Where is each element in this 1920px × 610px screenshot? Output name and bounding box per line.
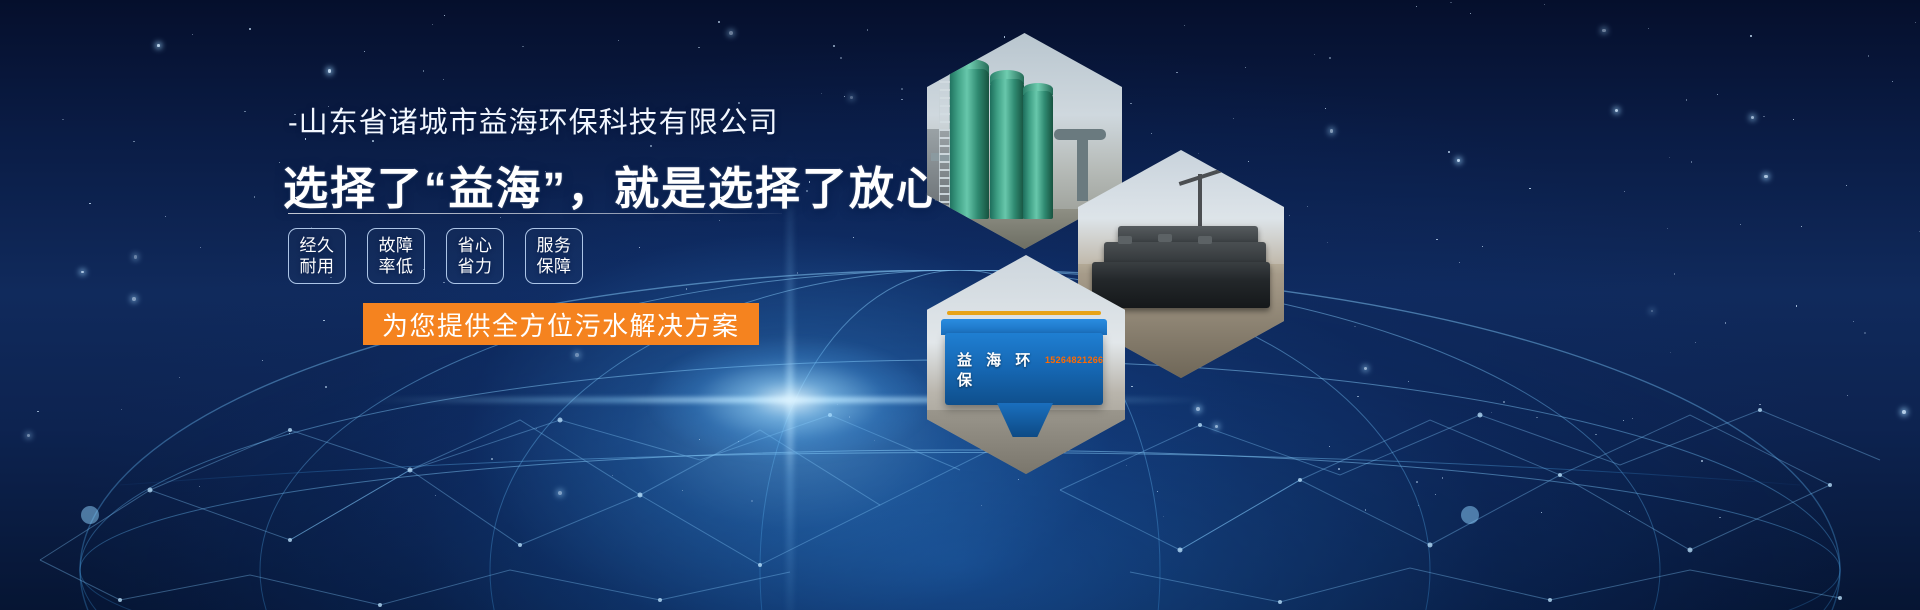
machine-brand-label: 益 海 环 保 [957,351,1043,371]
badge-line2: 省力 [458,256,493,277]
hero-banner: -山东省诸城市益海环保科技有限公司 选择了“益海”，就是选择了放心 经久 耐用 … [0,0,1920,610]
text-content: -山东省诸城市益海环保科技有限公司 选择了“益海”，就是选择了放心 经久 耐用 … [0,0,900,610]
cta-label: 为您提供全方位污水解决方案 [382,306,740,343]
headline: 选择了“益海”，就是选择了放心 [283,152,943,217]
badge-line1: 故障 [379,235,414,256]
badge-durability: 经久 耐用 [288,228,346,284]
badge-effortless: 省心 省力 [446,228,504,284]
machine-phone-label: 15264821266 [1045,355,1103,365]
badge-line2: 率低 [379,256,414,277]
badge-service-guarantee: 服务 保障 [525,228,583,284]
cta-banner[interactable]: 为您提供全方位污水解决方案 [363,303,759,345]
feature-badges: 经久 耐用 故障 率低 省心 省力 服务 保障 [288,228,583,284]
badge-line2: 耐用 [300,256,335,277]
divider [288,213,782,214]
photo-cluster: 益 海 环 保 15264821266 [880,0,1920,610]
badge-low-failure: 故障 率低 [367,228,425,284]
badge-line1: 服务 [537,235,572,256]
badge-line2: 保障 [537,256,572,277]
company-subtitle: -山东省诸城市益海环保科技有限公司 [288,99,779,141]
badge-line1: 省心 [458,235,493,256]
badge-line1: 经久 [300,235,335,256]
